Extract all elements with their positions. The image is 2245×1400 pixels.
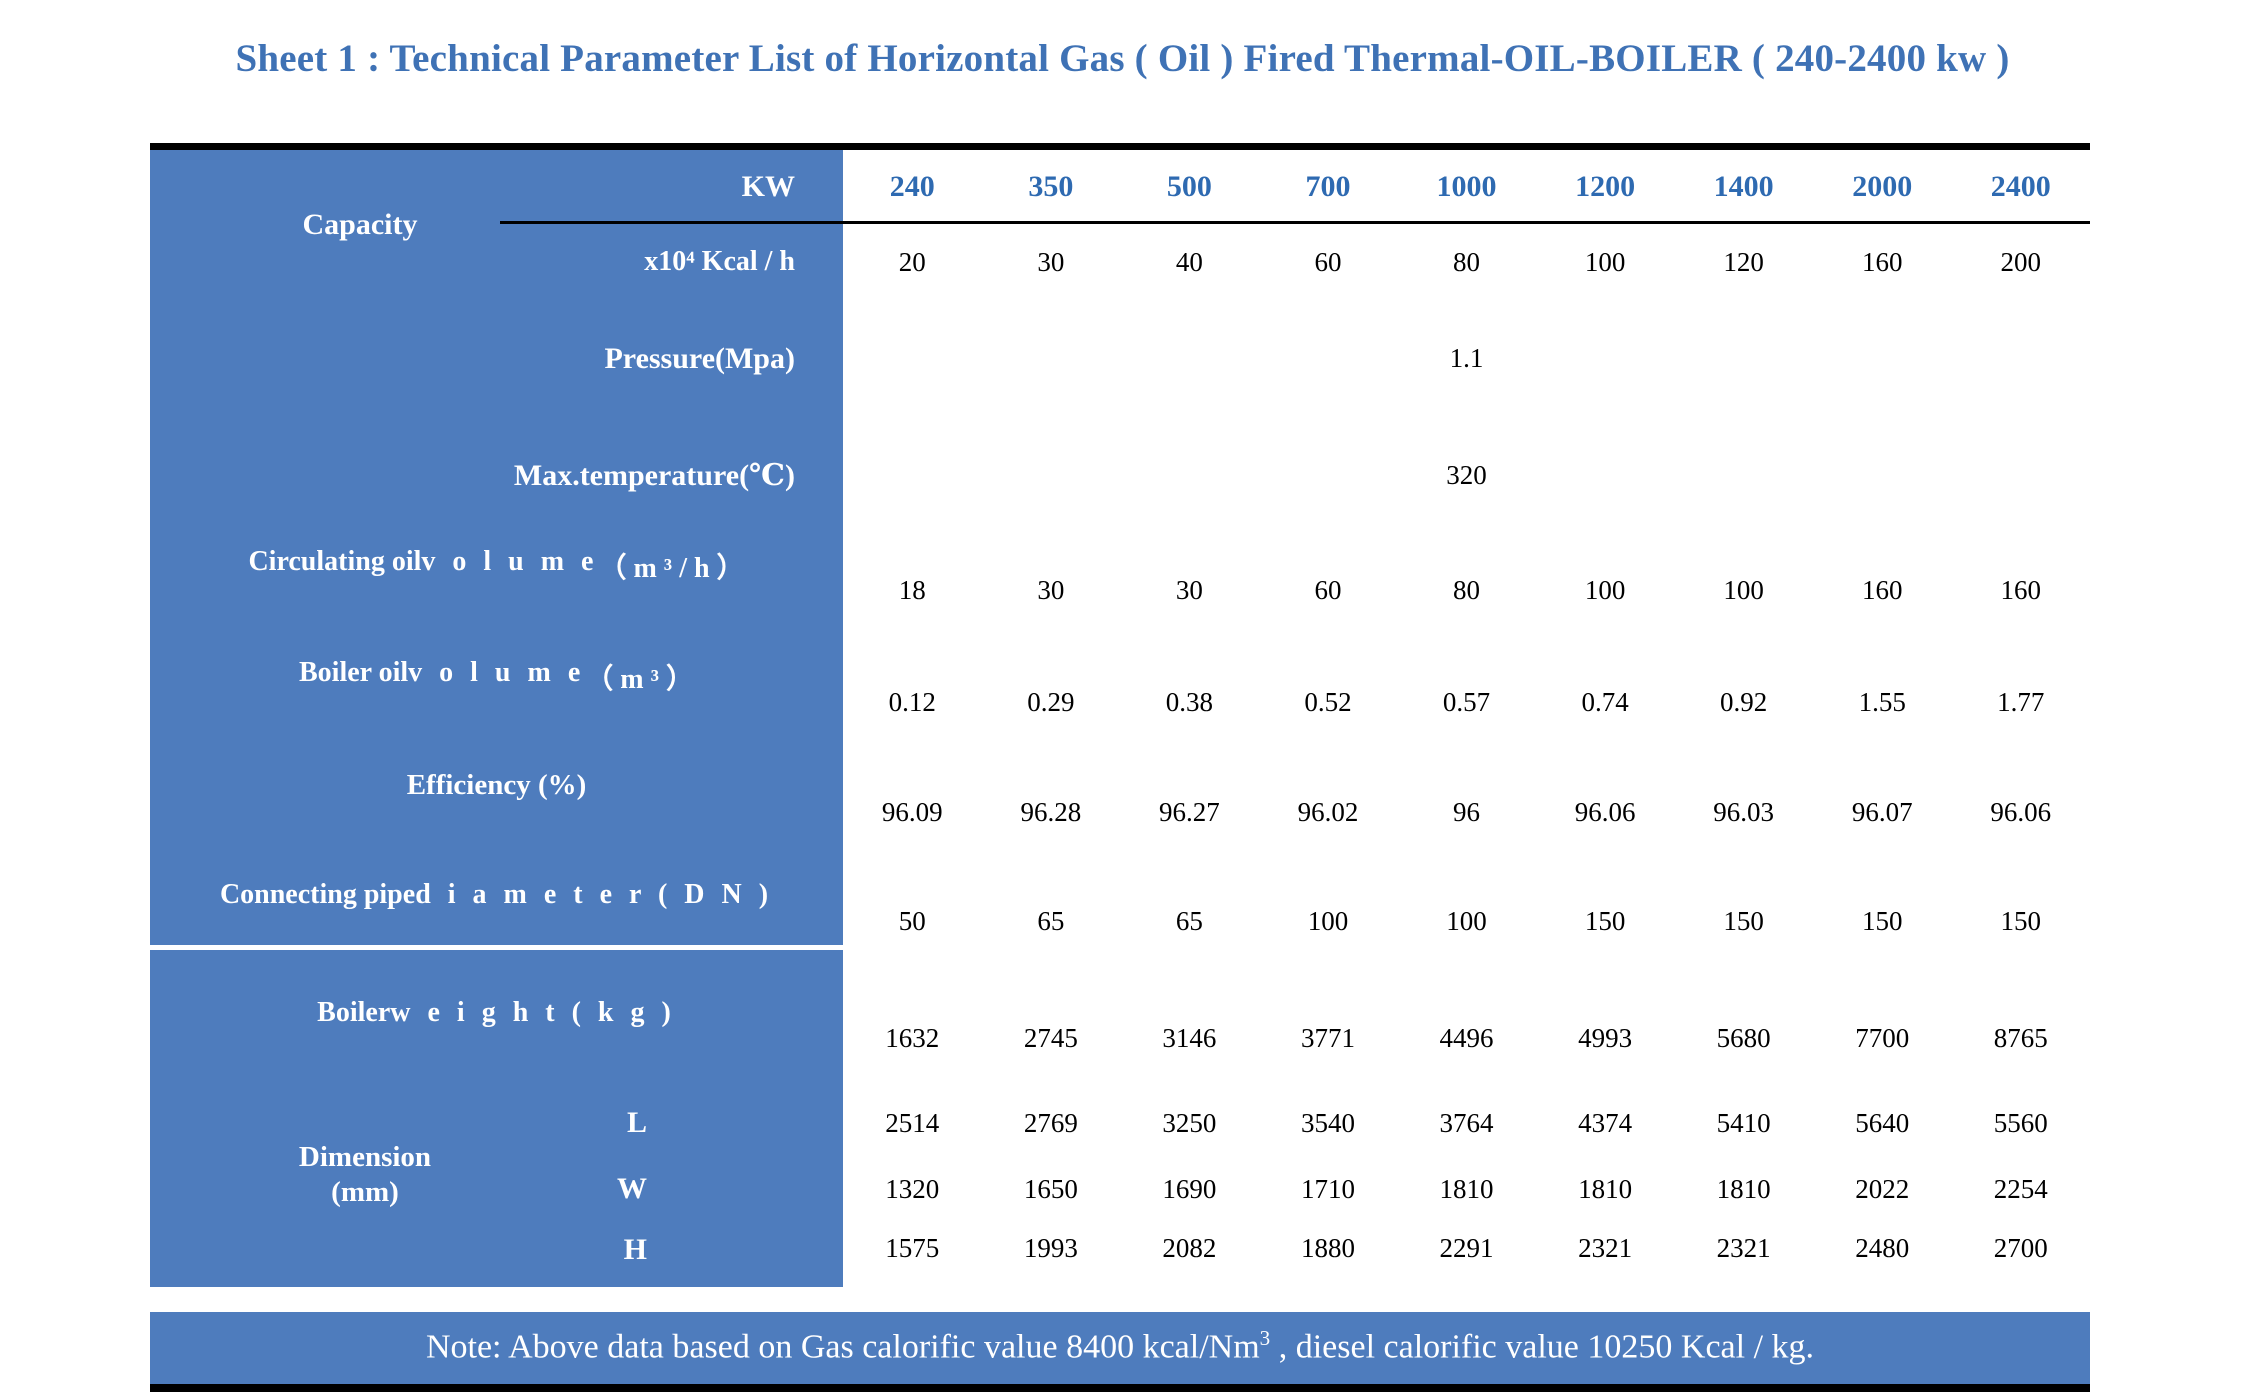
footer-note-part3: , diesel calorific value 10250 Kcal / kg… <box>1270 1328 1814 1365</box>
table-cell: 0.92 <box>1674 687 1813 718</box>
table-cell: 0.38 <box>1120 687 1259 718</box>
table-row-pressure: Pressure(Mpa) 1.1 <box>150 300 2090 417</box>
boiler-oil-volume-label-spaced: v o l u m e <box>408 657 585 689</box>
dimension-l-values: 2514 2769 3250 3540 3764 4374 5410 5640 … <box>843 1087 2090 1159</box>
table-row-efficiency: Efficiency (%) 96.09 96.28 96.27 96.02 9… <box>150 757 2090 867</box>
table-cell: 3771 <box>1259 1023 1398 1054</box>
label-column-separator <box>150 945 843 950</box>
boiler-weight-label-spaced: w e i g h t ( k g ) <box>390 997 676 1029</box>
table-cell: 2745 <box>982 1023 1121 1054</box>
table-cell: 2291 <box>1397 1233 1536 1264</box>
table-cell: 96.27 <box>1120 797 1259 828</box>
table-cell: 30 <box>982 575 1121 606</box>
capacity-kcal-values: 20 30 40 60 80 100 120 160 200 <box>843 224 2090 300</box>
table-cell: 350 <box>982 170 1121 204</box>
dimension-group-unit-text: (mm) <box>331 1175 399 1209</box>
table-cell: 1.55 <box>1813 687 1952 718</box>
table-cell: 60 <box>1259 575 1398 606</box>
footer-note-superscript: 3 <box>1260 1326 1271 1350</box>
table-cell: 150 <box>1952 906 2091 937</box>
table-cell: 4496 <box>1397 1023 1536 1054</box>
boiler-oil-volume-label-pre: Boiler oil <box>299 657 408 689</box>
table-cell: 3764 <box>1397 1108 1536 1139</box>
table-cell: 3250 <box>1120 1108 1259 1139</box>
efficiency-label: Efficiency (%) <box>150 757 843 867</box>
table-cell: 96.06 <box>1952 797 2091 828</box>
circulating-oil-volume-label: Circulating oil v o l u m e （ m ³ / h ） <box>150 534 843 647</box>
table-cell: 96.03 <box>1674 797 1813 828</box>
table-body: KW 240 350 500 700 1000 1200 1400 2000 2… <box>150 150 2090 1312</box>
table-cell: 1810 <box>1536 1174 1675 1205</box>
table-cell: 80 <box>1397 575 1536 606</box>
page-title: Sheet 1 : Technical Parameter List of Ho… <box>0 36 2245 81</box>
table-cell: 2700 <box>1952 1233 2091 1264</box>
circulating-oil-volume-label-post: （ m ³ / h ） <box>598 546 744 586</box>
connecting-pipe-diameter-label: Connecting pipe d i a m e t e r ( D N ) <box>150 867 843 975</box>
table-cell: 0.74 <box>1536 687 1675 718</box>
table-cell: 5640 <box>1813 1108 1952 1139</box>
table-cell: 150 <box>1813 906 1952 937</box>
table-cell: 100 <box>1397 906 1536 937</box>
table-row-circulating-oil-volume: Circulating oil v o l u m e （ m ³ / h ） … <box>150 534 2090 647</box>
table-cell: 96 <box>1397 797 1536 828</box>
table-cell: 200 <box>1952 247 2091 278</box>
table-cell: 65 <box>982 906 1121 937</box>
table-cell: 100 <box>1259 906 1398 937</box>
table-cell: 5410 <box>1674 1108 1813 1139</box>
table-cell: 2514 <box>843 1108 982 1139</box>
table-cell: 2254 <box>1952 1174 2091 1205</box>
table-cell: 1200 <box>1536 170 1675 204</box>
table-cell: 1690 <box>1120 1174 1259 1205</box>
table-cell: 0.29 <box>982 687 1121 718</box>
parameter-table: KW 240 350 500 700 1000 1200 1400 2000 2… <box>150 143 2090 1392</box>
table-cell: 2321 <box>1536 1233 1675 1264</box>
footer-note: Note: Above data based on Gas calorific … <box>150 1312 2090 1384</box>
table-top-border <box>150 143 2090 150</box>
dimension-group-label: Dimension (mm) <box>150 1062 580 1287</box>
table-cell: 1810 <box>1397 1174 1536 1205</box>
table-cell: 30 <box>982 247 1121 278</box>
max-temperature-values: 320 <box>843 417 2090 534</box>
table-cell: 5680 <box>1674 1023 1813 1054</box>
table-cell: 1993 <box>982 1233 1121 1264</box>
footer-note-part2: kcal/Nm <box>1143 1328 1260 1365</box>
capacity-group-label: Capacity <box>150 150 570 300</box>
table-cell: 4993 <box>1536 1023 1675 1054</box>
table-cell: 7700 <box>1813 1023 1952 1054</box>
efficiency-values: 96.09 96.28 96.27 96.02 96 96.06 96.03 9… <box>843 757 2090 867</box>
table-cell: 2082 <box>1120 1233 1259 1264</box>
table-cell: 2400 <box>1952 170 2091 204</box>
table-cell: 1810 <box>1674 1174 1813 1205</box>
table-cell: 160 <box>1813 575 1952 606</box>
table-cell: 1000 <box>1397 170 1536 204</box>
table-bottom-border <box>150 1384 2090 1392</box>
table-row-connecting-pipe-diameter: Connecting pipe d i a m e t e r ( D N ) … <box>150 867 2090 975</box>
table-cell-merged: 1.1 <box>1450 343 1484 374</box>
table-cell: 160 <box>1952 575 2091 606</box>
table-cell: 100 <box>1536 247 1675 278</box>
table-cell: 20 <box>843 247 982 278</box>
table-cell: 1880 <box>1259 1233 1398 1264</box>
table-row-boiler-oil-volume: Boiler oil v o l u m e （ m ³ ） 0.12 0.29… <box>150 647 2090 757</box>
boiler-weight-values: 1632 2745 3146 3771 4496 4993 5680 7700 … <box>843 975 2090 1087</box>
table-cell: 2321 <box>1674 1233 1813 1264</box>
table-cell: 96.07 <box>1813 797 1952 828</box>
connecting-pipe-label-pre: Connecting pipe <box>220 879 415 911</box>
circulating-oil-volume-values: 18 30 30 60 80 100 100 160 160 <box>843 534 2090 647</box>
table-cell: 2000 <box>1813 170 1952 204</box>
circulating-oil-volume-label-pre: Circulating oil <box>248 546 421 578</box>
table-cell: 96.28 <box>982 797 1121 828</box>
max-temperature-label: Max.temperature(℃) <box>150 417 843 534</box>
table-row-max-temperature: Max.temperature(℃) 320 <box>150 417 2090 534</box>
capacity-kw-values: 240 350 500 700 1000 1200 1400 2000 2400 <box>843 150 2090 224</box>
boiler-oil-volume-values: 0.12 0.29 0.38 0.52 0.57 0.74 0.92 1.55 … <box>843 647 2090 757</box>
pressure-values: 1.1 <box>843 300 2090 417</box>
pressure-label: Pressure(Mpa) <box>150 300 843 417</box>
table-cell: 96.02 <box>1259 797 1398 828</box>
boiler-weight-label-pre: Boiler <box>317 997 390 1029</box>
table-cell: 1710 <box>1259 1174 1398 1205</box>
table-cell: 5560 <box>1952 1108 2091 1139</box>
parameter-sheet-page: Sheet 1 : Technical Parameter List of Ho… <box>0 0 2245 1400</box>
table-cell: 2769 <box>982 1108 1121 1139</box>
table-cell: 18 <box>843 575 982 606</box>
table-cell-merged: 320 <box>1446 460 1487 491</box>
table-cell: 120 <box>1674 247 1813 278</box>
table-cell: 96.09 <box>843 797 982 828</box>
boiler-oil-volume-label: Boiler oil v o l u m e （ m ³ ） <box>150 647 843 757</box>
dimension-group-label-text: Dimension <box>299 1140 431 1174</box>
table-cell: 65 <box>1120 906 1259 937</box>
table-cell: 150 <box>1674 906 1813 937</box>
dimension-h-values: 1575 1993 2082 1880 2291 2321 2321 2480 … <box>843 1219 2090 1312</box>
table-cell: 2022 <box>1813 1174 1952 1205</box>
footer-note-part1: Note: Above data based on Gas calorific … <box>426 1328 1143 1365</box>
table-cell: 8765 <box>1952 1023 2091 1054</box>
table-cell: 1320 <box>843 1174 982 1205</box>
table-cell: 0.52 <box>1259 687 1398 718</box>
table-cell: 1575 <box>843 1233 982 1264</box>
table-cell: 150 <box>1536 906 1675 937</box>
table-cell: 3540 <box>1259 1108 1398 1139</box>
table-cell: 1.77 <box>1952 687 2091 718</box>
connecting-pipe-diameter-values: 50 65 65 100 100 150 150 150 150 <box>843 867 2090 975</box>
table-cell: 240 <box>843 170 982 204</box>
table-cell: 700 <box>1259 170 1398 204</box>
table-cell: 160 <box>1813 247 1952 278</box>
table-cell: 30 <box>1120 575 1259 606</box>
table-cell: 0.12 <box>843 687 982 718</box>
circulating-oil-volume-label-spaced: v o l u m e <box>421 546 598 578</box>
table-cell: 50 <box>843 906 982 937</box>
table-cell: 60 <box>1259 247 1398 278</box>
table-cell: 1650 <box>982 1174 1121 1205</box>
connecting-pipe-label-spaced: d i a m e t e r ( D N ) <box>415 879 773 911</box>
table-cell: 0.57 <box>1397 687 1536 718</box>
table-cell: 80 <box>1397 247 1536 278</box>
table-cell: 100 <box>1536 575 1675 606</box>
table-cell: 4374 <box>1536 1108 1675 1139</box>
table-cell: 100 <box>1674 575 1813 606</box>
table-cell: 1632 <box>843 1023 982 1054</box>
table-cell: 2480 <box>1813 1233 1952 1264</box>
table-cell: 500 <box>1120 170 1259 204</box>
table-cell: 96.06 <box>1536 797 1675 828</box>
boiler-oil-volume-label-post: （ m ³ ） <box>585 657 694 697</box>
dimension-w-values: 1320 1650 1690 1710 1810 1810 1810 2022 … <box>843 1159 2090 1219</box>
table-cell: 1400 <box>1674 170 1813 204</box>
table-cell: 3146 <box>1120 1023 1259 1054</box>
table-cell: 40 <box>1120 247 1259 278</box>
